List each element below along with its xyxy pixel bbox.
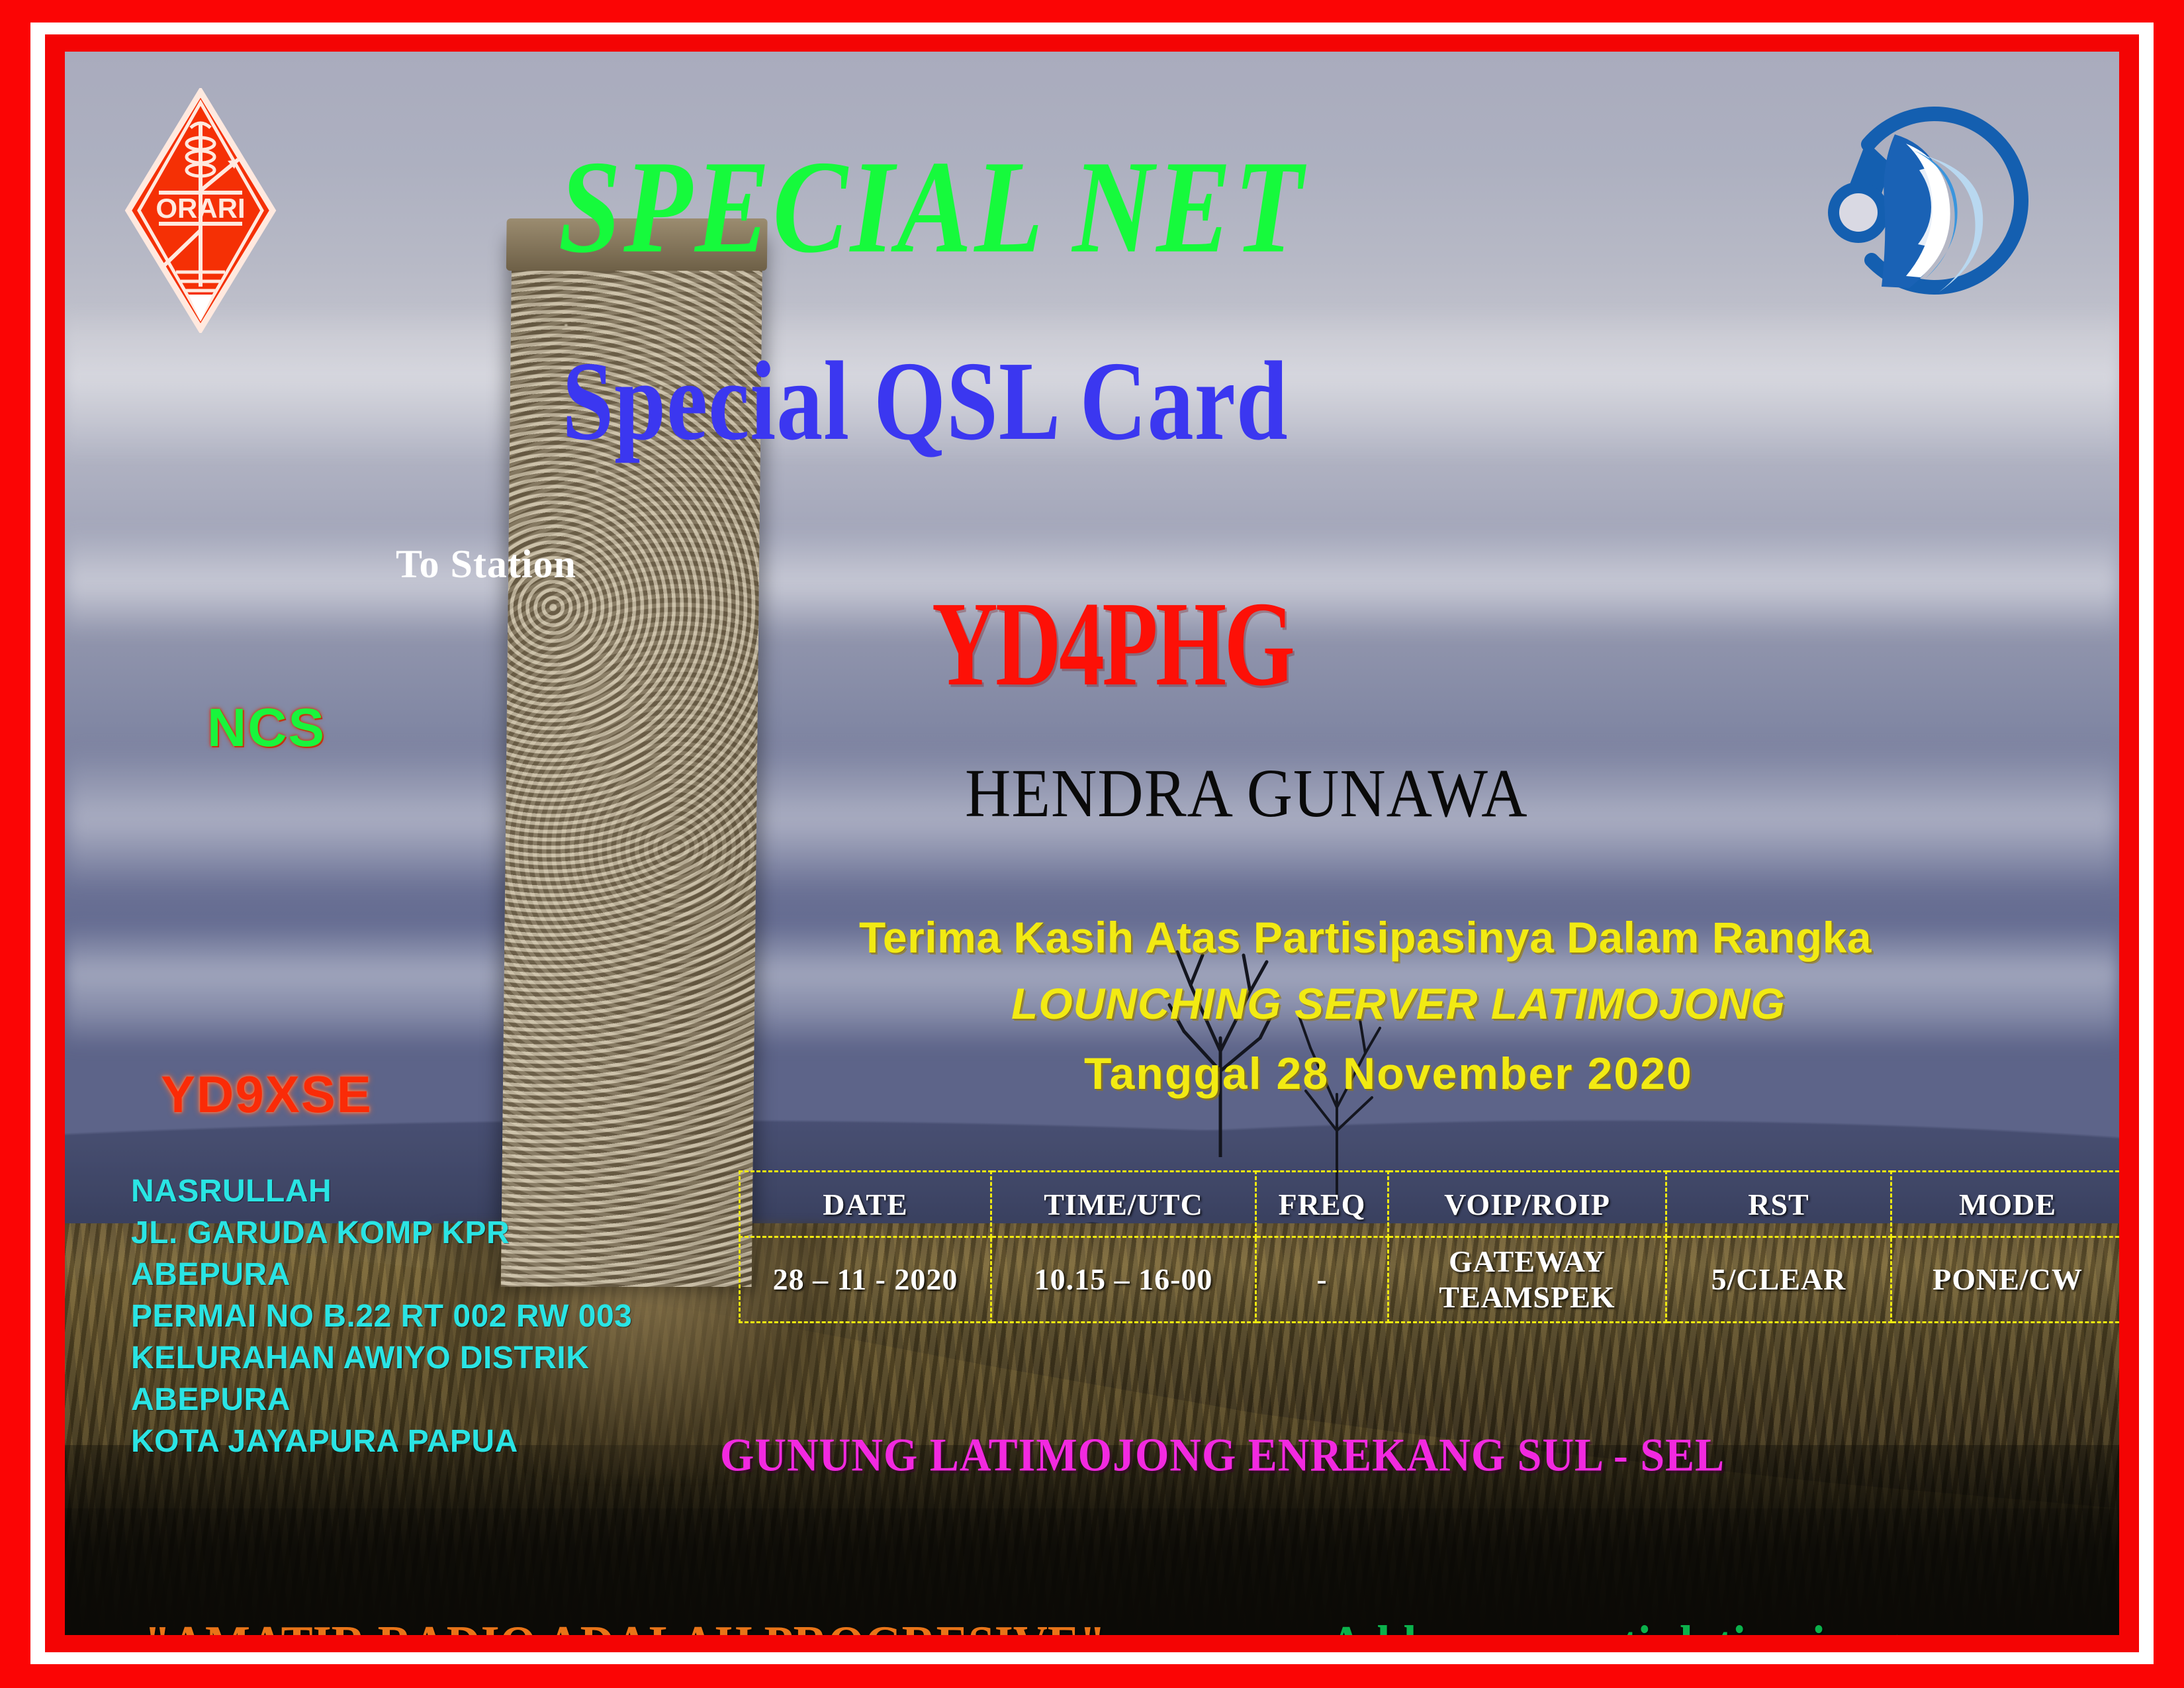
address-line: ABEPURA — [131, 1254, 632, 1295]
qso-details-table: DATE TIME/UTC FREQ VOIP/ROIP RST MODE 28… — [739, 1170, 2119, 1323]
station-callsign: YD4PHG — [932, 575, 1293, 714]
column-header-voip: VOIP/ROIP — [1388, 1172, 1666, 1237]
table-header-row: DATE TIME/UTC FREQ VOIP/ROIP RST MODE — [740, 1172, 2120, 1237]
thanks-line-1: Terima Kasih Atas Partisipasinya Dalam R… — [859, 912, 1872, 962]
thanks-line-2: LOUNCHING SERVER LATIMOJONG — [1011, 978, 1786, 1029]
inner-red-border: ORARI — [45, 34, 2139, 1652]
cell-rst: 5/CLEAR — [1666, 1237, 1891, 1323]
address-line: KOTA JAYAPURA PAPUA — [131, 1421, 632, 1462]
page-subtitle-qsl-card: Special QSL Card — [65, 336, 1786, 466]
column-header-rst: RST — [1666, 1172, 1891, 1237]
address-line: PERMAI NO B.22 RT 002 RW 003 — [131, 1295, 632, 1337]
column-header-freq: FREQ — [1256, 1172, 1388, 1237]
cell-voip: GATEWAY TEAMSPEK — [1388, 1237, 1666, 1323]
ncs-address-block: NASRULLAH JL. GARUDA KOMP KPR ABEPURA PE… — [131, 1170, 632, 1462]
address-line: ABEPURA — [131, 1379, 632, 1421]
background-photograph: ORARI — [65, 52, 2119, 1635]
qsl-card-frame: ORARI — [0, 0, 2184, 1688]
cell-freq: - — [1256, 1237, 1388, 1323]
headset-profile-logo — [1825, 95, 2044, 306]
ncs-label: NCS — [207, 697, 326, 759]
cell-mode: PONE/CW — [1891, 1237, 2120, 1323]
column-header-date: DATE — [740, 1172, 991, 1237]
to-station-label: To Station — [396, 541, 576, 587]
ncs-callsign: YD9XSE — [161, 1064, 373, 1125]
address-line: JL. GARUDA KOMP KPR — [131, 1212, 632, 1254]
white-border-ring: ORARI — [30, 23, 2154, 1664]
cell-date: 28 – 11 - 2020 — [740, 1237, 991, 1323]
location-line: GUNUNG LATIMOJONG ENREKANG SUL - SEL — [720, 1429, 1725, 1483]
column-header-mode: MODE — [1891, 1172, 2120, 1237]
address-line: NASRULLAH — [131, 1170, 632, 1212]
footer-address-url: Address : amatir.latimojong.com — [1329, 1614, 1996, 1635]
footer-motto: "AMATIR RADIO ADALAH PROGRESIVE" — [144, 1614, 1106, 1635]
operator-name: HENDRA GUNAWA — [965, 753, 1528, 833]
address-line: KELURAHAN AWIYO DISTRIK — [131, 1337, 632, 1379]
thanks-line-3: Tanggal 28 November 2020 — [1084, 1048, 1693, 1100]
cell-time: 10.15 – 16-00 — [991, 1237, 1256, 1323]
table-row: 28 – 11 - 2020 10.15 – 16-00 - GATEWAY T… — [740, 1237, 2120, 1323]
page-title-special-net: SPECIAL NET — [65, 131, 1799, 283]
column-header-time: TIME/UTC — [991, 1172, 1256, 1237]
